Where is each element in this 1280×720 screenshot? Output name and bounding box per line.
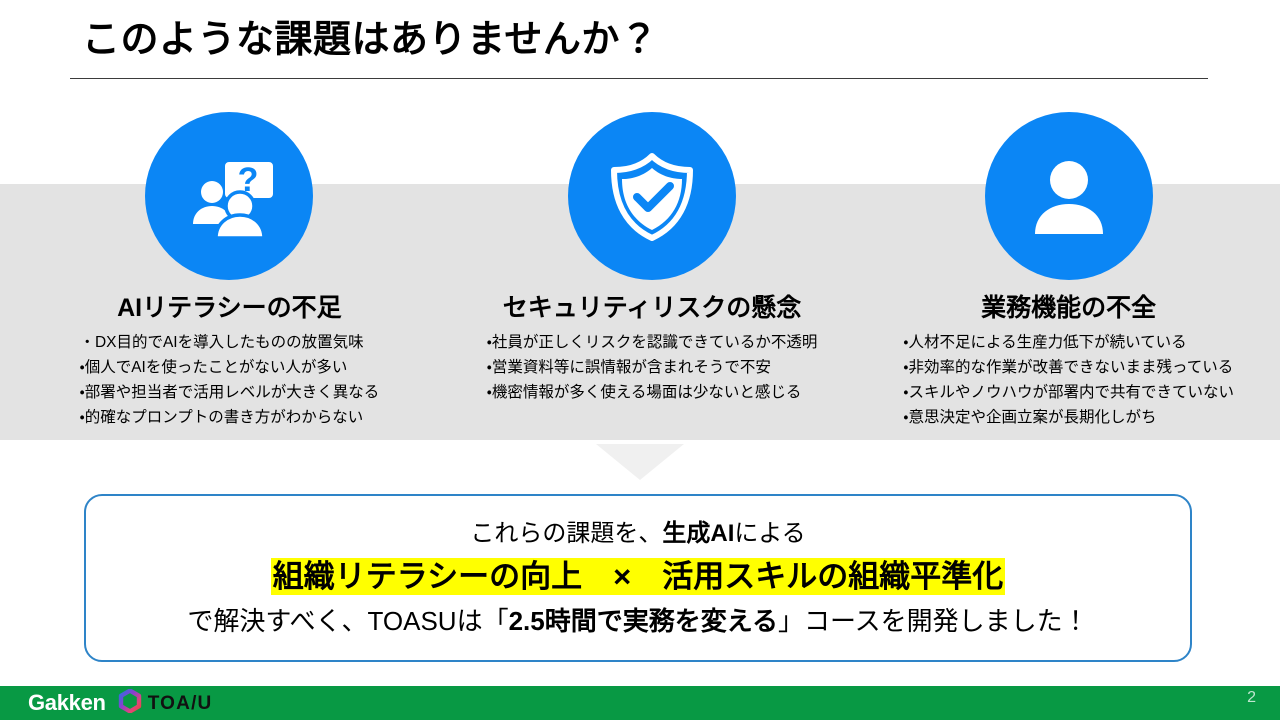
list-item: ・個人でAIを使ったことがない人が多い xyxy=(79,355,379,380)
list-item: ・意思決定や企画立案が長期化しがち xyxy=(903,405,1234,430)
problem-heading: セキュリティリスクの懸念 xyxy=(503,294,802,323)
person-icon xyxy=(985,112,1153,280)
page-number: 2 xyxy=(1247,690,1256,706)
problem-column-ai-literacy: ? AIリテラシーの不足 ・DX目的でAIを導入したものの放置気味 ・個人でAI… xyxy=(18,112,441,442)
problem-bullets: ・人材不足による生産力低下が続いている ・非効率的な作業が改善できないまま残って… xyxy=(903,330,1234,430)
toasu-hexagon-icon xyxy=(118,689,142,718)
list-item: ・人材不足による生産力低下が続いている xyxy=(903,330,1234,355)
down-arrow-icon xyxy=(596,444,684,480)
callout-line3-suffix: 」コースを開発しました！ xyxy=(778,606,1089,636)
list-item: ・部署や担当者で活用レベルが大きく異なる xyxy=(79,380,379,405)
problem-columns: ? AIリテラシーの不足 ・DX目的でAIを導入したものの放置気味 ・個人でAI… xyxy=(0,112,1280,442)
callout-line3-bold: 2.5時間で実務を変える xyxy=(509,606,778,636)
shield-check-icon xyxy=(568,112,736,280)
problem-column-security-risk: セキュリティリスクの懸念 ・社員が正しくリスクを認識できているか不透明 ・営業資… xyxy=(441,112,864,442)
problem-bullets: ・DX目的でAIを導入したものの放置気味 ・個人でAIを使ったことがない人が多い… xyxy=(79,330,379,430)
solution-callout-box: これらの課題を、生成AIによる 組織リテラシーの向上 × 活用スキルの組織平準化… xyxy=(84,494,1192,662)
gakken-logo: Gakken xyxy=(28,692,106,714)
list-item: ・社員が正しくリスクを認識できているか不透明 xyxy=(487,330,818,355)
toasu-logo: TOA/U xyxy=(118,689,213,718)
problem-heading: AIリテラシーの不足 xyxy=(117,294,342,323)
toasu-wordmark: TOA/U xyxy=(148,694,213,713)
footer-bar: Gakken TOA/U xyxy=(0,686,1280,720)
page-title: このような課題はありませんか？ xyxy=(82,18,658,64)
highlighted-solution-text: 組織リテラシーの向上 × 活用スキルの組織平準化 xyxy=(271,558,1005,595)
problem-heading: 業務機能の不全 xyxy=(981,294,1156,323)
footer-logos: Gakken TOA/U xyxy=(28,686,212,720)
callout-line3-prefix: で解決すべく、TOASUは「 xyxy=(187,606,508,636)
people-question-icon: ? xyxy=(145,112,313,280)
callout-line-1: これらの課題を、生成AIによる xyxy=(470,519,805,549)
callout-line-3: で解決すべく、TOASUは「2.5時間で実務を変える」コースを開発しました！ xyxy=(187,605,1088,638)
title-divider xyxy=(70,78,1208,79)
callout-line1-suffix: による xyxy=(734,520,805,547)
list-item: ・DX目的でAIを導入したものの放置気味 xyxy=(79,330,379,355)
list-item: ・機密情報が多く使える場面は少ないと感じる xyxy=(487,380,818,405)
list-item: ・非効率的な作業が改善できないまま残っている xyxy=(903,355,1234,380)
list-item: ・的確なプロンプトの書き方がわからない xyxy=(79,405,379,430)
problem-column-business-function: 業務機能の不全 ・人材不足による生産力低下が続いている ・非効率的な作業が改善で… xyxy=(857,112,1280,442)
callout-line1-prefix: これらの課題を、 xyxy=(470,520,662,547)
problem-bullets: ・社員が正しくリスクを認識できているか不透明 ・営業資料等に誤情報が含まれそうで… xyxy=(487,330,818,405)
list-item: ・スキルやノウハウが部署内で共有できていない xyxy=(903,380,1234,405)
callout-line-2: 組織リテラシーの向上 × 活用スキルの組織平準化 xyxy=(271,558,1005,595)
list-item: ・営業資料等に誤情報が含まれそうで不安 xyxy=(487,355,818,380)
callout-line1-bold: 生成AI xyxy=(662,520,734,547)
